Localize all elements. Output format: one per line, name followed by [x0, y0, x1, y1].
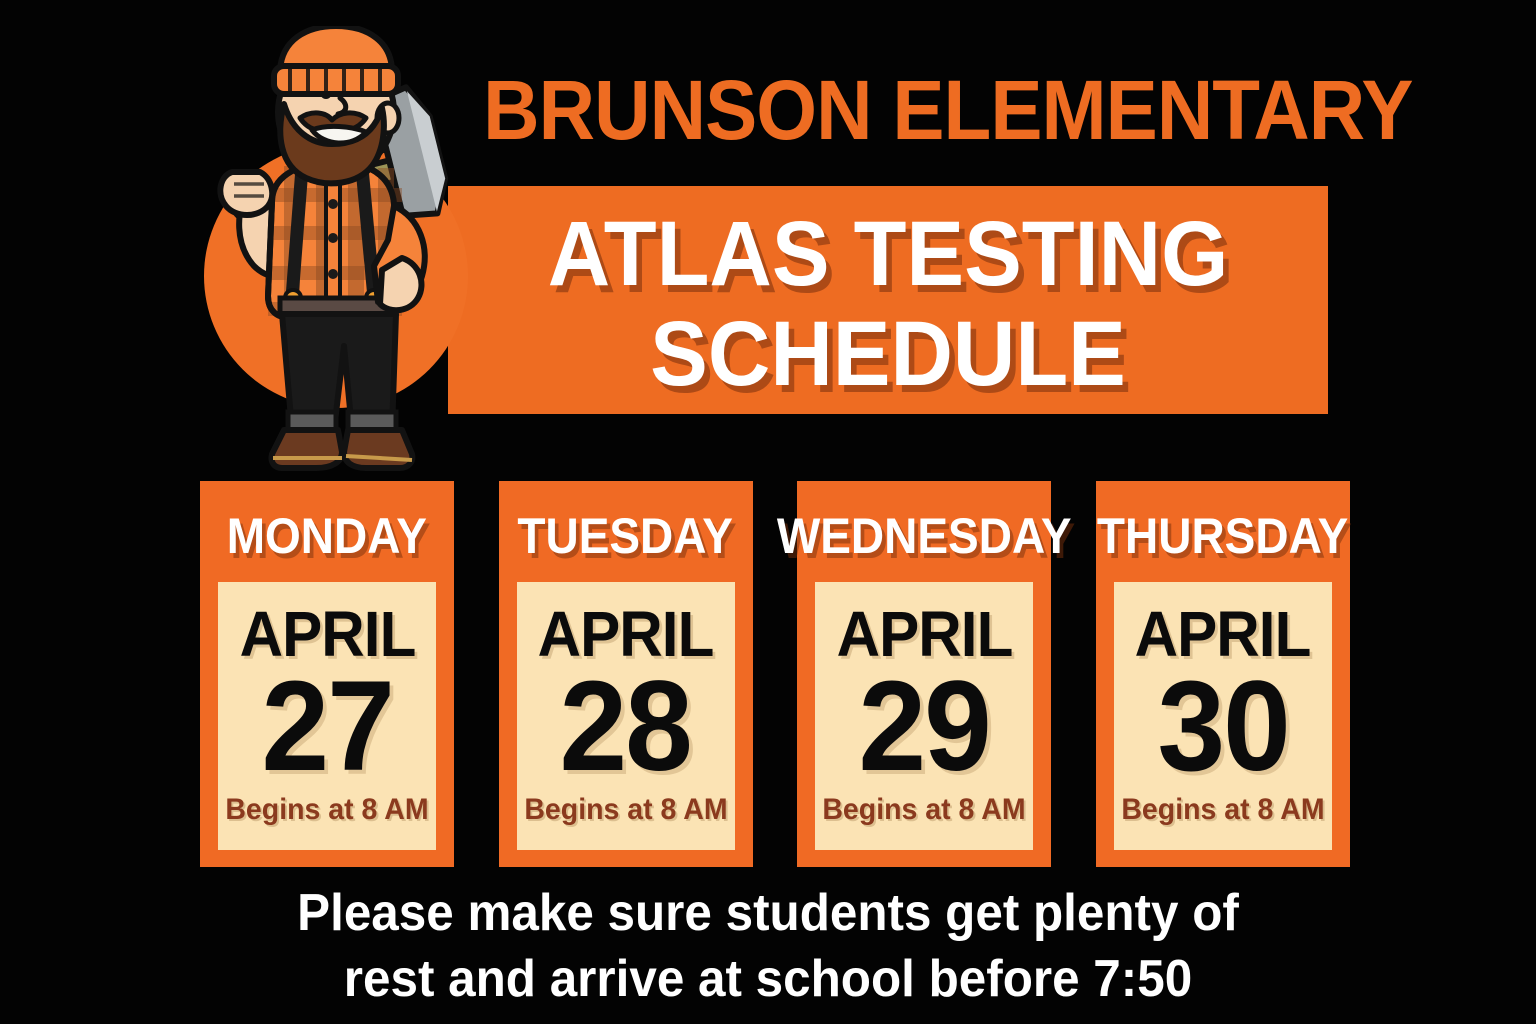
- footer-note: Please make sure students get plenty of …: [0, 880, 1536, 1012]
- day-label: WEDNESDAY: [777, 510, 1072, 562]
- footer-line-2: rest and arrive at school before 7:50: [38, 946, 1497, 1012]
- date-number: 27: [261, 666, 392, 788]
- begins-time-label: Begins at 8 AM: [823, 794, 1026, 826]
- date-panel: APRIL 30 Begins at 8 AM: [1114, 582, 1332, 850]
- schedule-card-thursday: THURSDAY APRIL 30 Begins at 8 AM: [1096, 481, 1350, 867]
- begins-time-label: Begins at 8 AM: [1121, 794, 1324, 826]
- lumberjack-mascot: [176, 26, 486, 476]
- page-title: BRUNSON ELEMENTARY: [483, 68, 1311, 152]
- date-number: 28: [560, 666, 691, 788]
- date-panel: APRIL 29 Begins at 8 AM: [815, 582, 1033, 850]
- date-panel: APRIL 28 Begins at 8 AM: [517, 582, 735, 850]
- day-label: MONDAY: [227, 510, 427, 562]
- day-label: TUESDAY: [518, 510, 734, 562]
- orange-banner-background: [448, 186, 1328, 414]
- testing-schedule-poster: BRUNSON ELEMENTARY ATLAS TESTING SCHEDUL…: [0, 0, 1536, 1024]
- schedule-card-tuesday: TUESDAY APRIL 28 Begins at 8 AM: [499, 481, 753, 867]
- schedule-card-monday: MONDAY APRIL 27 Begins at 8 AM: [200, 481, 454, 867]
- beanie-icon: [274, 26, 398, 94]
- date-number: 30: [1157, 666, 1288, 788]
- day-label: THURSDAY: [1097, 510, 1348, 562]
- date-panel: APRIL 27 Begins at 8 AM: [218, 582, 436, 850]
- footer-line-1: Please make sure students get plenty of: [38, 880, 1497, 946]
- date-number: 29: [859, 666, 990, 788]
- begins-time-label: Begins at 8 AM: [225, 794, 428, 826]
- schedule-card-list: MONDAY APRIL 27 Begins at 8 AM TUESDAY A…: [200, 481, 1350, 867]
- begins-time-label: Begins at 8 AM: [524, 794, 727, 826]
- schedule-card-wednesday: WEDNESDAY APRIL 29 Begins at 8 AM: [797, 481, 1051, 867]
